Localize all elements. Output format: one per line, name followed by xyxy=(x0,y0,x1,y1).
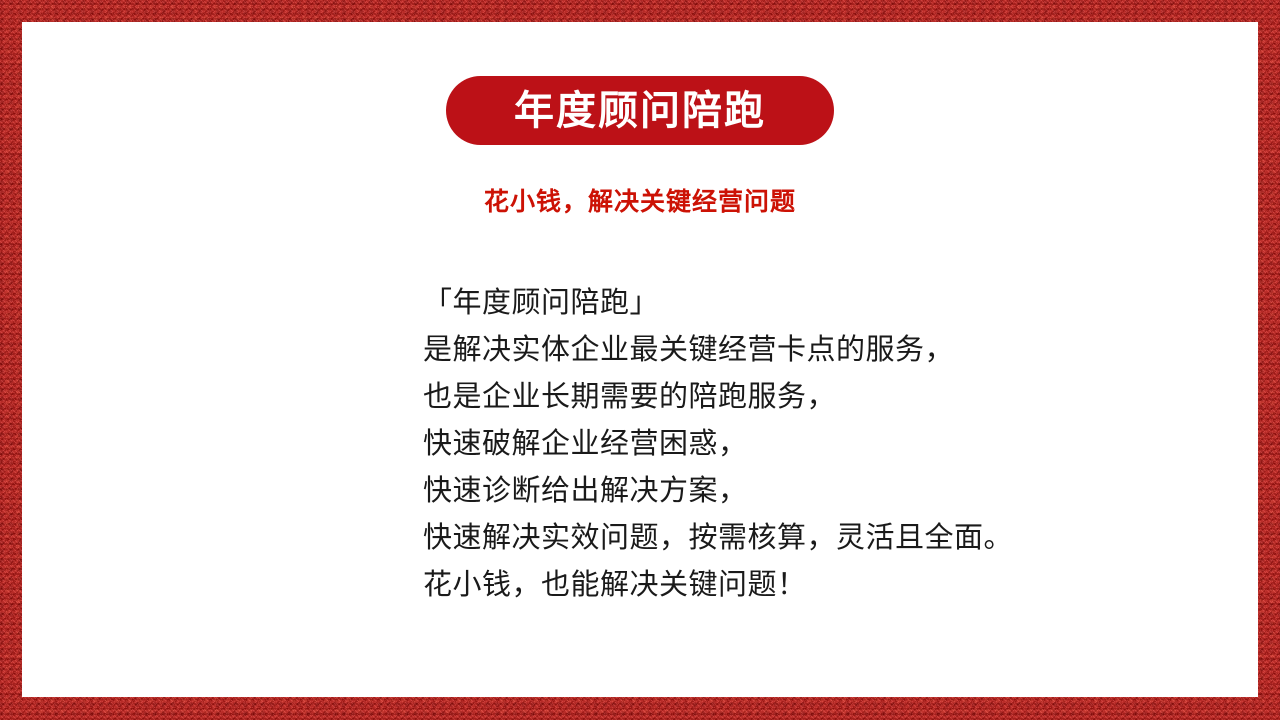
body-line: 快速诊断给出解决方案， xyxy=(423,468,1063,515)
body-line: 是解决实体企业最关键经营卡点的服务， xyxy=(423,327,1063,374)
page-title: 年度顾问陪跑 xyxy=(514,91,766,131)
body-line: 也是企业长期需要的陪跑服务， xyxy=(423,374,1063,421)
body-line: 快速破解企业经营困惑， xyxy=(423,421,1063,468)
body-line: 快速解决实效问题，按需核算，灵活且全面。 xyxy=(423,515,1063,562)
title-pill-container: 年度顾问陪跑 xyxy=(22,76,1258,145)
body-line: 「年度顾问陪跑」 xyxy=(423,280,1063,327)
body-text-block: 「年度顾问陪跑」 是解决实体企业最关键经营卡点的服务， 也是企业长期需要的陪跑服… xyxy=(423,280,1063,609)
slide-white-canvas: 年度顾问陪跑 花小钱，解决关键经营问题 「年度顾问陪跑」 是解决实体企业最关键经… xyxy=(22,22,1258,697)
title-pill: 年度顾问陪跑 xyxy=(446,76,834,145)
body-line: 花小钱，也能解决关键问题！ xyxy=(423,562,1063,609)
subtitle-text: 花小钱，解决关键经营问题 xyxy=(22,190,1258,215)
presentation-slide: 年度顾问陪跑 花小钱，解决关键经营问题 「年度顾问陪跑」 是解决实体企业最关键经… xyxy=(0,0,1280,720)
